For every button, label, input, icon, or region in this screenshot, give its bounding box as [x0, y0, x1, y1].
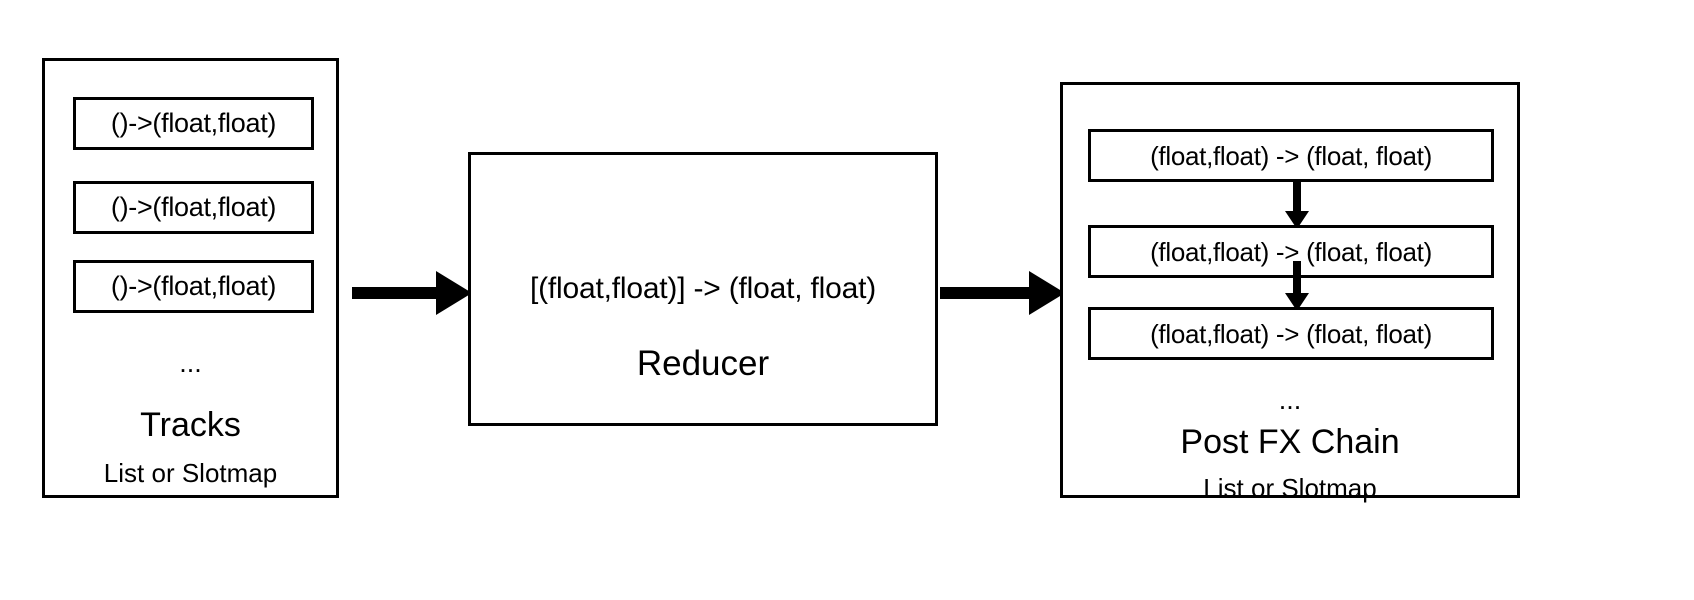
tracks-title: Tracks	[45, 408, 336, 442]
reducer-signature: [(float,float)] -> (float, float)	[471, 274, 935, 304]
tracks-container: ()->(float,float) ()->(float,float) ()->…	[42, 58, 339, 498]
tracks-subtitle: List or Slotmap	[45, 460, 336, 486]
reducer-title: Reducer	[471, 346, 935, 381]
post-fx-chain-subtitle: List or Slotmap	[1063, 475, 1517, 501]
track-item[interactable]: ()->(float,float)	[73, 260, 314, 313]
diagram-canvas: ()->(float,float) ()->(float,float) ()->…	[0, 0, 1694, 600]
arrow-fx-2-to-fx-3-icon	[1285, 261, 1309, 311]
arrow-fx-1-to-fx-2-icon	[1285, 179, 1309, 229]
post-fx-chain-ellipsis: ...	[1063, 387, 1517, 414]
post-fx-item[interactable]: (float,float) -> (float, float)	[1088, 307, 1494, 360]
post-fx-chain-title: Post FX Chain	[1063, 425, 1517, 459]
arrow-reducer-to-post-fx-chain-icon	[940, 263, 1065, 323]
post-fx-item[interactable]: (float,float) -> (float, float)	[1088, 129, 1494, 182]
tracks-ellipsis: ...	[45, 350, 336, 377]
post-fx-chain-container: (float,float) -> (float, float) (float,f…	[1060, 82, 1520, 498]
track-item[interactable]: ()->(float,float)	[73, 97, 314, 150]
arrow-tracks-to-reducer-icon	[352, 263, 472, 323]
track-item[interactable]: ()->(float,float)	[73, 181, 314, 234]
reducer-container: [(float,float)] -> (float, float) Reduce…	[468, 152, 938, 426]
